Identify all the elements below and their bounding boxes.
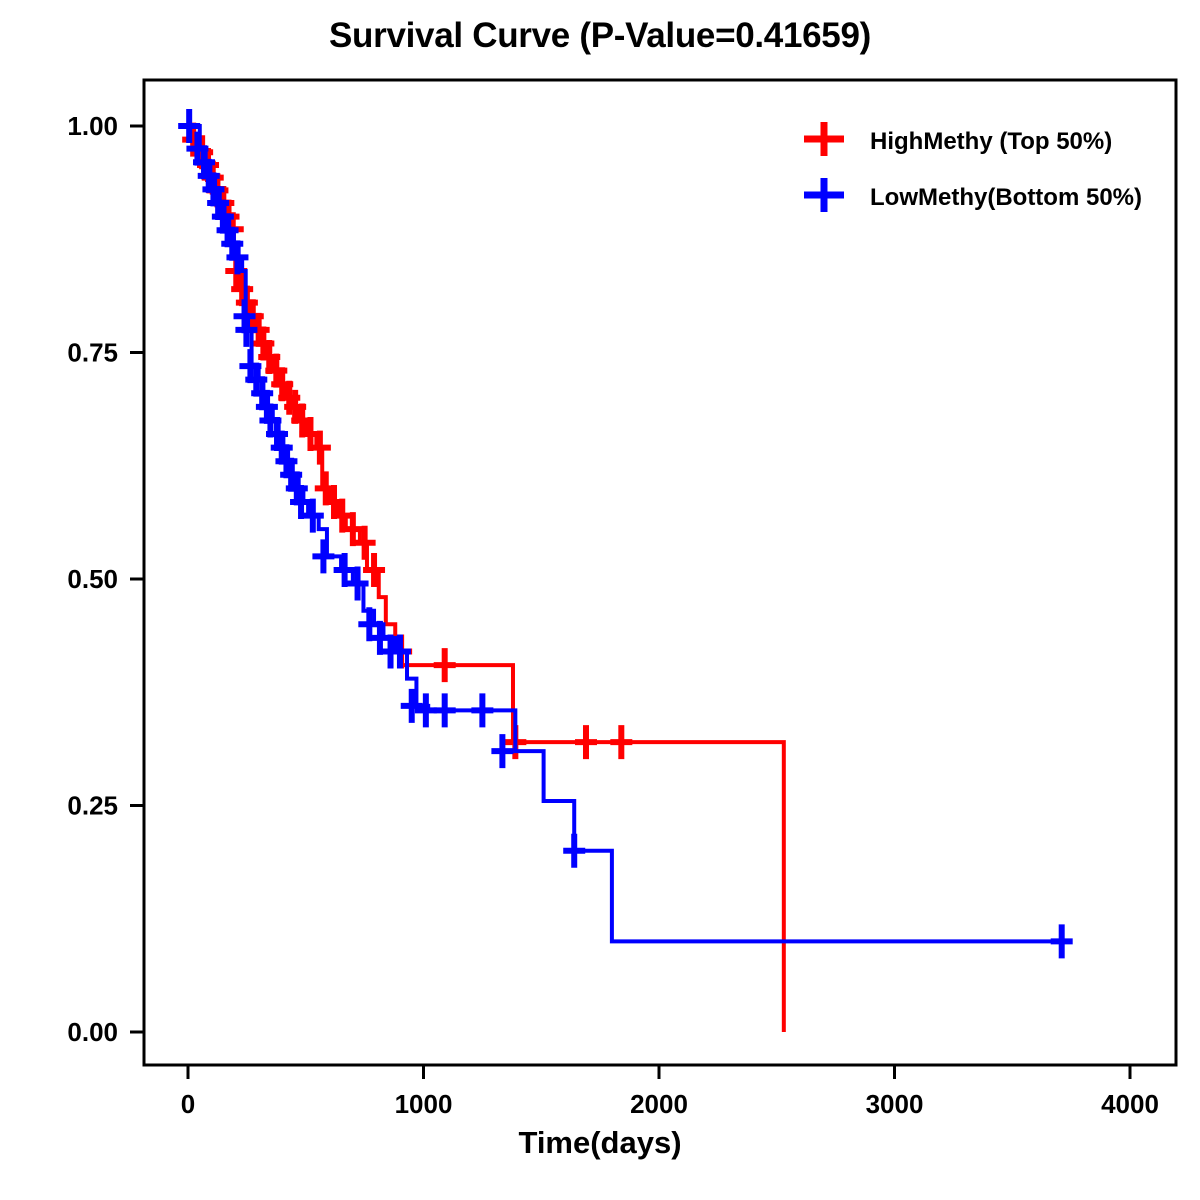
- y-axis-tick-label: 0.75: [67, 338, 118, 368]
- legend-item-label: HighMethy (Top 50%): [870, 128, 1112, 155]
- x-axis-tick-label: 0: [181, 1089, 195, 1119]
- x-axis-tick-label: 1000: [395, 1089, 453, 1119]
- survival-curve-figure: Survival Curve (P-Value=0.41659) Surviva…: [0, 0, 1200, 1200]
- y-axis-tick-label: 0.50: [67, 564, 118, 594]
- x-axis-tick-label: 3000: [866, 1089, 924, 1119]
- survival-step-line: [188, 126, 1062, 941]
- plot-border: [144, 80, 1176, 1065]
- legend: HighMethy (Top 50%)LowMethy(Bottom 50%): [804, 122, 1142, 212]
- y-axis-tick-label: 0.25: [67, 791, 118, 821]
- legend-item-label: LowMethy(Bottom 50%): [870, 184, 1142, 211]
- x-axis-tick-label: 4000: [1101, 1089, 1159, 1119]
- plot-area: 010002000300040000.000.250.500.751.00Hig…: [0, 0, 1200, 1200]
- y-axis-tick-label: 0.00: [67, 1017, 118, 1047]
- x-axis-tick-label: 2000: [630, 1089, 688, 1119]
- series-lowmethy: [178, 109, 1073, 958]
- survival-step-line: [188, 126, 784, 1032]
- y-axis-tick-label: 1.00: [67, 111, 118, 141]
- series-highmethy: [182, 123, 784, 1032]
